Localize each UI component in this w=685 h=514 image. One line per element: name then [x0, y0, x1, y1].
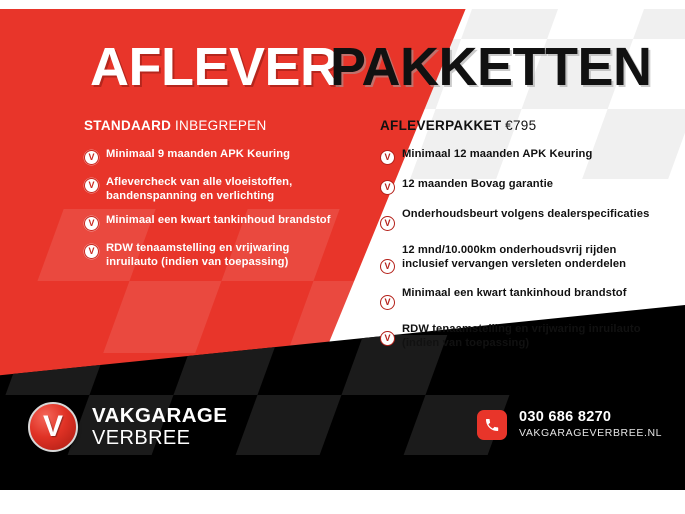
contact-block[interactable]: 030 686 8270 VAKGARAGEVERBREE.NL: [477, 409, 662, 440]
check-v-icon: V: [84, 150, 99, 165]
check-v-icon-glyph: V: [384, 219, 390, 228]
check-v-icon-glyph: V: [384, 183, 390, 192]
list-item-label: RDW tenaamstelling en vrijwaring inruila…: [106, 242, 334, 269]
list-item-label: Minimaal een kwart tankinhoud brandstof: [106, 214, 331, 228]
brand-sub-name: VERBREE: [92, 427, 227, 450]
brand-name: VAKGARAGE: [92, 404, 227, 427]
afleverpakket-bullet-list: V Minimaal 12 maanden APK Keuring V 12 m…: [380, 148, 650, 350]
list-item-label: Minimaal 9 maanden APK Keuring: [106, 148, 290, 162]
check-v-icon-glyph: V: [384, 262, 390, 271]
check-v-icon: V: [380, 180, 395, 195]
check-v-icon-glyph: V: [384, 298, 390, 307]
phone-number[interactable]: 030 686 8270: [519, 409, 662, 426]
brand-text: VAKGARAGE VERBREE: [92, 404, 227, 450]
bottom-white-strip: [0, 490, 685, 514]
inbegrepen-label: INBEGREPEN: [175, 118, 267, 133]
afleverpakket-label: AFLEVERPAKKET: [380, 118, 501, 133]
standaard-column-heading: STANDAARD INBEGREPEN: [84, 118, 334, 134]
list-item-label: 12 maanden Bovag garantie: [402, 178, 553, 192]
contact-text: 030 686 8270 VAKGARAGEVERBREE.NL: [519, 409, 662, 440]
check-v-icon-glyph: V: [384, 153, 390, 162]
poster: AFLEVER PAKKETTEN STANDAARD INBEGREPEN V…: [0, 0, 685, 514]
list-item-label: Minimaal een kwart tankinhoud brandstof: [402, 287, 627, 301]
list-item: V Aflevercheck van alle vloeistoffen, ba…: [84, 176, 334, 203]
list-item: V Minimaal een kwart tankinhoud brandsto…: [84, 214, 334, 231]
check-v-icon: V: [380, 331, 395, 346]
check-v-icon-glyph: V: [88, 247, 94, 256]
brand-logo-block: V VAKGARAGE VERBREE: [28, 402, 227, 452]
afleverpakket-column-heading: AFLEVERPAKKET €795: [380, 118, 650, 134]
afleverpakket-column: AFLEVERPAKKET €795 V Minimaal 12 maanden…: [380, 118, 650, 363]
check-v-icon-glyph: V: [88, 219, 94, 228]
afleverpakket-price: €795: [505, 118, 536, 133]
website-url[interactable]: VAKGARAGEVERBREE.NL: [519, 426, 662, 440]
list-item-label: Onderhoudsbeurt volgens dealerspecificat…: [402, 208, 649, 222]
check-v-icon: V: [84, 216, 99, 231]
list-item: V RDW tenaamstelling en vrijwaring inrui…: [380, 323, 650, 350]
check-v-icon: V: [84, 244, 99, 259]
check-v-icon-glyph: V: [88, 153, 94, 162]
check-v-icon-glyph: V: [384, 334, 390, 343]
standaard-bullet-list: V Minimaal 9 maanden APK Keuring V Aflev…: [84, 148, 334, 269]
list-item-label: RDW tenaamstelling en vrijwaring inruila…: [402, 323, 650, 350]
check-v-icon: V: [380, 259, 395, 274]
list-item: V Minimaal 12 maanden APK Keuring: [380, 148, 650, 165]
check-v-icon: V: [380, 216, 395, 231]
vakgarage-v-logo-glyph: V: [43, 412, 63, 442]
check-v-icon: V: [380, 295, 395, 310]
check-v-icon: V: [84, 178, 99, 193]
top-white-strip: [0, 0, 685, 9]
list-item: V Minimaal 9 maanden APK Keuring: [84, 148, 334, 165]
standaard-label: STANDAARD: [84, 118, 171, 133]
list-item: V RDW tenaamstelling en vrijwaring inrui…: [84, 242, 334, 269]
check-v-icon-glyph: V: [88, 181, 94, 190]
check-v-icon: V: [380, 150, 395, 165]
vakgarage-v-logo-icon: V: [28, 402, 78, 452]
phone-icon: [477, 410, 507, 440]
list-item: V Minimaal een kwart tankinhoud brandsto…: [380, 287, 650, 310]
list-item: V 12 maanden Bovag garantie: [380, 178, 650, 195]
standaard-column: STANDAARD INBEGREPEN V Minimaal 9 maande…: [84, 118, 334, 280]
list-item-label: 12 mnd/10.000km onderhoudsvrij rijden in…: [402, 244, 650, 271]
list-item: V 12 mnd/10.000km onderhoudsvrij rijden …: [380, 244, 650, 274]
list-item: V Onderhoudsbeurt volgens dealerspecific…: [380, 208, 650, 231]
list-item-label: Aflevercheck van alle vloeistoffen, band…: [106, 176, 334, 203]
list-item-label: Minimaal 12 maanden APK Keuring: [402, 148, 592, 162]
